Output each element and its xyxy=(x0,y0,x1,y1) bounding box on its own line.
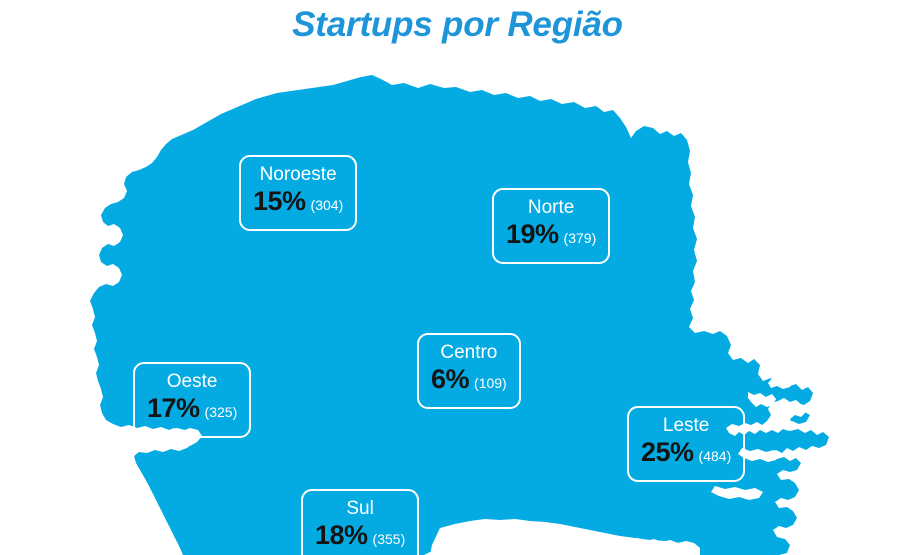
region-count-oeste: (325) xyxy=(205,404,238,420)
region-stats-leste: 25%(484) xyxy=(641,437,731,472)
region-count-norte: (379) xyxy=(564,230,597,246)
region-label-oeste[interactable]: Oeste 17%(325) xyxy=(133,362,251,438)
region-stats-centro: 6%(109) xyxy=(431,364,507,399)
region-label-leste[interactable]: Leste 25%(484) xyxy=(627,406,745,482)
region-name-noroeste: Noroeste xyxy=(253,163,343,186)
region-stats-norte: 19%(379) xyxy=(506,219,596,254)
region-percent-leste: 25% xyxy=(641,437,694,467)
region-label-norte[interactable]: Norte 19%(379) xyxy=(492,188,610,264)
region-percent-oeste: 17% xyxy=(147,393,200,423)
region-name-oeste: Oeste xyxy=(147,370,237,393)
region-stats-oeste: 17%(325) xyxy=(147,393,237,428)
parana-state-map xyxy=(0,0,915,555)
region-name-leste: Leste xyxy=(641,414,731,437)
region-label-sul[interactable]: Sul 18%(355) xyxy=(301,489,419,555)
infographic-canvas: Startups por Região Noroeste 15%(304) No… xyxy=(0,0,915,555)
region-label-centro[interactable]: Centro 6%(109) xyxy=(417,333,521,409)
region-percent-centro: 6% xyxy=(431,364,469,394)
region-percent-sul: 18% xyxy=(315,520,368,550)
region-name-norte: Norte xyxy=(506,196,596,219)
region-count-sul: (355) xyxy=(373,531,406,547)
region-stats-sul: 18%(355) xyxy=(315,520,405,555)
region-name-centro: Centro xyxy=(431,341,507,364)
region-name-sul: Sul xyxy=(315,497,405,520)
region-count-centro: (109) xyxy=(474,375,507,391)
region-percent-noroeste: 15% xyxy=(253,186,306,216)
parana-state-shape xyxy=(90,75,829,555)
region-count-leste: (484) xyxy=(699,448,732,464)
region-count-noroeste: (304) xyxy=(311,197,344,213)
region-label-noroeste[interactable]: Noroeste 15%(304) xyxy=(239,155,357,231)
region-percent-norte: 19% xyxy=(506,219,559,249)
region-stats-noroeste: 15%(304) xyxy=(253,186,343,221)
